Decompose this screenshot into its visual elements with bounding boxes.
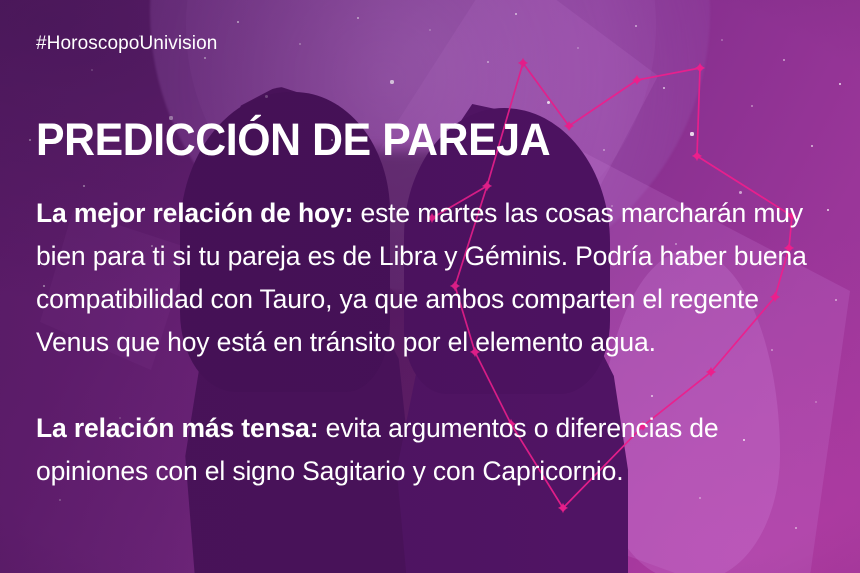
paragraph-lead-1: La mejor relación de hoy: <box>36 198 353 228</box>
horoscope-card: #HoroscopoUnivision PREDICCIÓN DE PAREJA… <box>0 0 860 573</box>
body-copy: La mejor relación de hoy: este martes la… <box>36 192 826 493</box>
page-title: PREDICCIÓN DE PAREJA <box>36 114 550 166</box>
hashtag-label: #HoroscopoUnivision <box>36 33 217 55</box>
paragraph-1: La mejor relación de hoy: este martes la… <box>36 192 826 364</box>
card-content: #HoroscopoUnivision PREDICCIÓN DE PAREJA… <box>36 0 836 573</box>
paragraph-2: La relación más tensa: evita argumentos … <box>36 407 826 493</box>
paragraph-lead-2: La relación más tensa: <box>36 413 318 443</box>
